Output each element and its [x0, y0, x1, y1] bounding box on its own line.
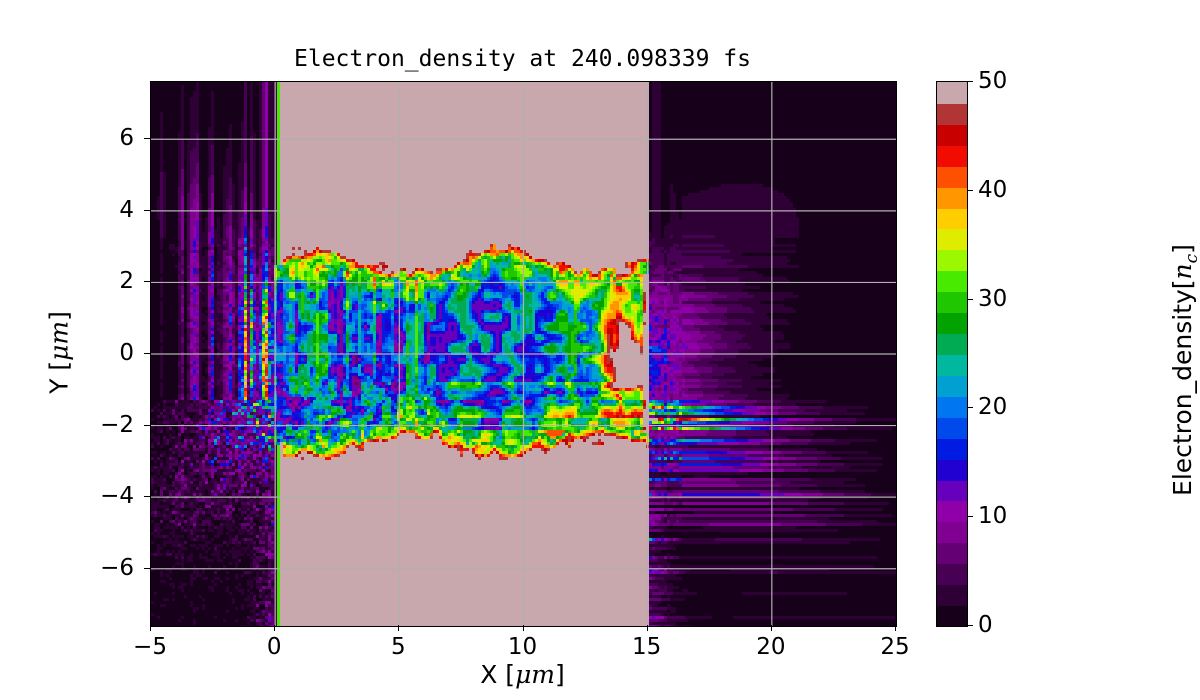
x-tick-6 — [895, 625, 896, 631]
x-tick-label-2: 5 — [391, 634, 406, 660]
colorbar-label-close: ] — [1168, 244, 1197, 254]
y-tick-label-0: −6 — [54, 555, 134, 581]
colorbar-tick-0 — [967, 625, 973, 626]
y-axis-label-unit: μm — [45, 321, 74, 361]
x-tick-label-0: −5 — [133, 634, 167, 660]
y-tick-5 — [144, 210, 150, 211]
y-tick-label-5: 4 — [54, 197, 134, 223]
y-tick-1 — [144, 496, 150, 497]
y-tick-0 — [144, 568, 150, 569]
x-axis-label-symbol: X — [480, 660, 497, 689]
x-tick-3 — [523, 625, 524, 631]
y-axis-label-bracket: [ — [45, 361, 74, 371]
y-tick-label-1: −4 — [54, 483, 134, 509]
electron-density-heatmap — [151, 82, 896, 626]
colorbar-gradient — [937, 82, 967, 626]
x-tick-label-3: 10 — [508, 634, 537, 660]
x-tick-2 — [398, 625, 399, 631]
y-tick-label-6: 6 — [54, 125, 134, 151]
colorbar-tick-5 — [967, 81, 973, 82]
colorbar-tick-label-1: 10 — [978, 503, 1007, 529]
colorbar-tick-label-2: 20 — [978, 394, 1007, 420]
colorbar[interactable] — [936, 81, 968, 627]
x-tick-5 — [771, 625, 772, 631]
y-axis-label-symbol: Y — [45, 379, 74, 394]
x-axis-label-unit: μm — [515, 660, 555, 689]
colorbar-tick-label-3: 30 — [978, 286, 1007, 312]
colorbar-label: Electron_density[nc] — [1168, 90, 1200, 650]
colorbar-tick-label-4: 40 — [978, 177, 1007, 203]
x-tick-1 — [274, 625, 275, 631]
x-axis-label-bracket-close: ] — [555, 660, 565, 689]
colorbar-tick-1 — [967, 516, 973, 517]
y-tick-3 — [144, 353, 150, 354]
y-tick-2 — [144, 425, 150, 426]
x-tick-label-4: 15 — [632, 634, 661, 660]
x-axis-label-bracket: [ — [505, 660, 515, 689]
x-tick-4 — [647, 625, 648, 631]
x-axis-label: X [μm] — [150, 660, 895, 689]
y-tick-4 — [144, 281, 150, 282]
colorbar-tick-2 — [967, 407, 973, 408]
figure-canvas: Electron_density at 240.098339 fs −50510… — [0, 0, 1200, 700]
main-plot-axes[interactable] — [150, 81, 897, 627]
x-tick-label-5: 20 — [756, 634, 785, 660]
x-tick-0 — [150, 625, 151, 631]
y-axis-label: Y [μm] — [45, 253, 74, 453]
colorbar-tick-label-0: 0 — [978, 612, 993, 638]
colorbar-label-symbol: nc — [1168, 254, 1197, 280]
y-tick-6 — [144, 138, 150, 139]
colorbar-tick-4 — [967, 190, 973, 191]
y-axis-label-bracket-close: ] — [45, 311, 74, 321]
x-tick-label-6: 25 — [880, 634, 909, 660]
colorbar-tick-label-5: 50 — [978, 68, 1007, 94]
page-title: Electron_density at 240.098339 fs — [150, 44, 895, 74]
colorbar-label-text: Electron_density[ — [1168, 279, 1197, 495]
colorbar-tick-3 — [967, 299, 973, 300]
x-tick-label-1: 0 — [267, 634, 282, 660]
